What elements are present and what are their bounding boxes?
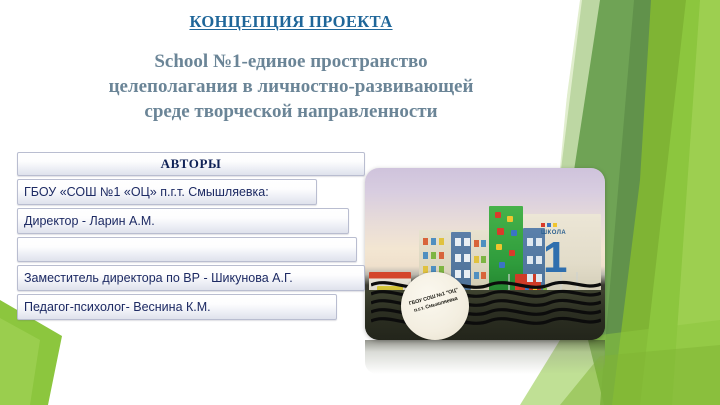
table-row-label: Педагог-психолог- Веснина К.М. [24,300,211,314]
green-shape-dark [600,0,720,405]
authors-table-header: АВТОРЫ [17,152,365,176]
page-subtitle: School №1-единое пространство целеполага… [0,31,582,124]
subtitle-line-3: среде творческой направленности [0,99,582,124]
authors-table: АВТОРЫ ГБОУ «СОШ №1 «ОЦ» п.г.т. Смышляев… [17,152,365,323]
table-row: Педагог-психолог- Веснина К.М. [17,294,337,320]
table-row-label: ГБОУ «СОШ №1 «ОЦ» п.г.т. Смышляевка: [24,185,269,199]
subtitle-line-1: School №1-единое пространство [0,49,582,74]
postmark-stamp-text: ГБОУ СОШ №1 "ОЦ" п.г.т. Смышляевка [401,285,469,319]
photo-reflection [365,340,605,374]
building-number-label: 1 [543,236,567,280]
page-title: КОНЦЕПЦИЯ ПРОЕКТА [0,0,582,31]
table-row-label: Директор - Ларин А.М. [24,214,155,228]
table-row: Директор - Ларин А.М. [17,208,349,234]
green-shape-light [672,0,720,405]
presentation-slide: КОНЦЕПЦИЯ ПРОЕКТА School №1-единое прост… [0,0,720,405]
table-row: ГБОУ «СОШ №1 «ОЦ» п.г.т. Смышляевка: [17,179,317,205]
postmark-stamp: ГБОУ СОШ №1 "ОЦ" п.г.т. Смышляевка [401,272,469,340]
title-block: КОНЦЕПЦИЯ ПРОЕКТА School №1-единое прост… [0,0,582,124]
green-shape-mid [612,0,720,405]
school-building-photo: ШКОЛА 1 ГБОУ СОШ №1 "ОЦ" п.г.т. Смышляев… [365,168,605,340]
authors-header-label: АВТОРЫ [161,156,222,172]
subtitle-line-2: целеполагания в личностно-развивающей [0,74,582,99]
table-row-label: Заместитель директора по ВР - Шикунова А… [24,271,293,285]
table-row-empty [17,237,357,262]
table-row: Заместитель директора по ВР - Шикунова А… [17,265,365,291]
green-shape-bottom-left-2 [0,318,40,405]
green-shape-bright [640,0,720,405]
